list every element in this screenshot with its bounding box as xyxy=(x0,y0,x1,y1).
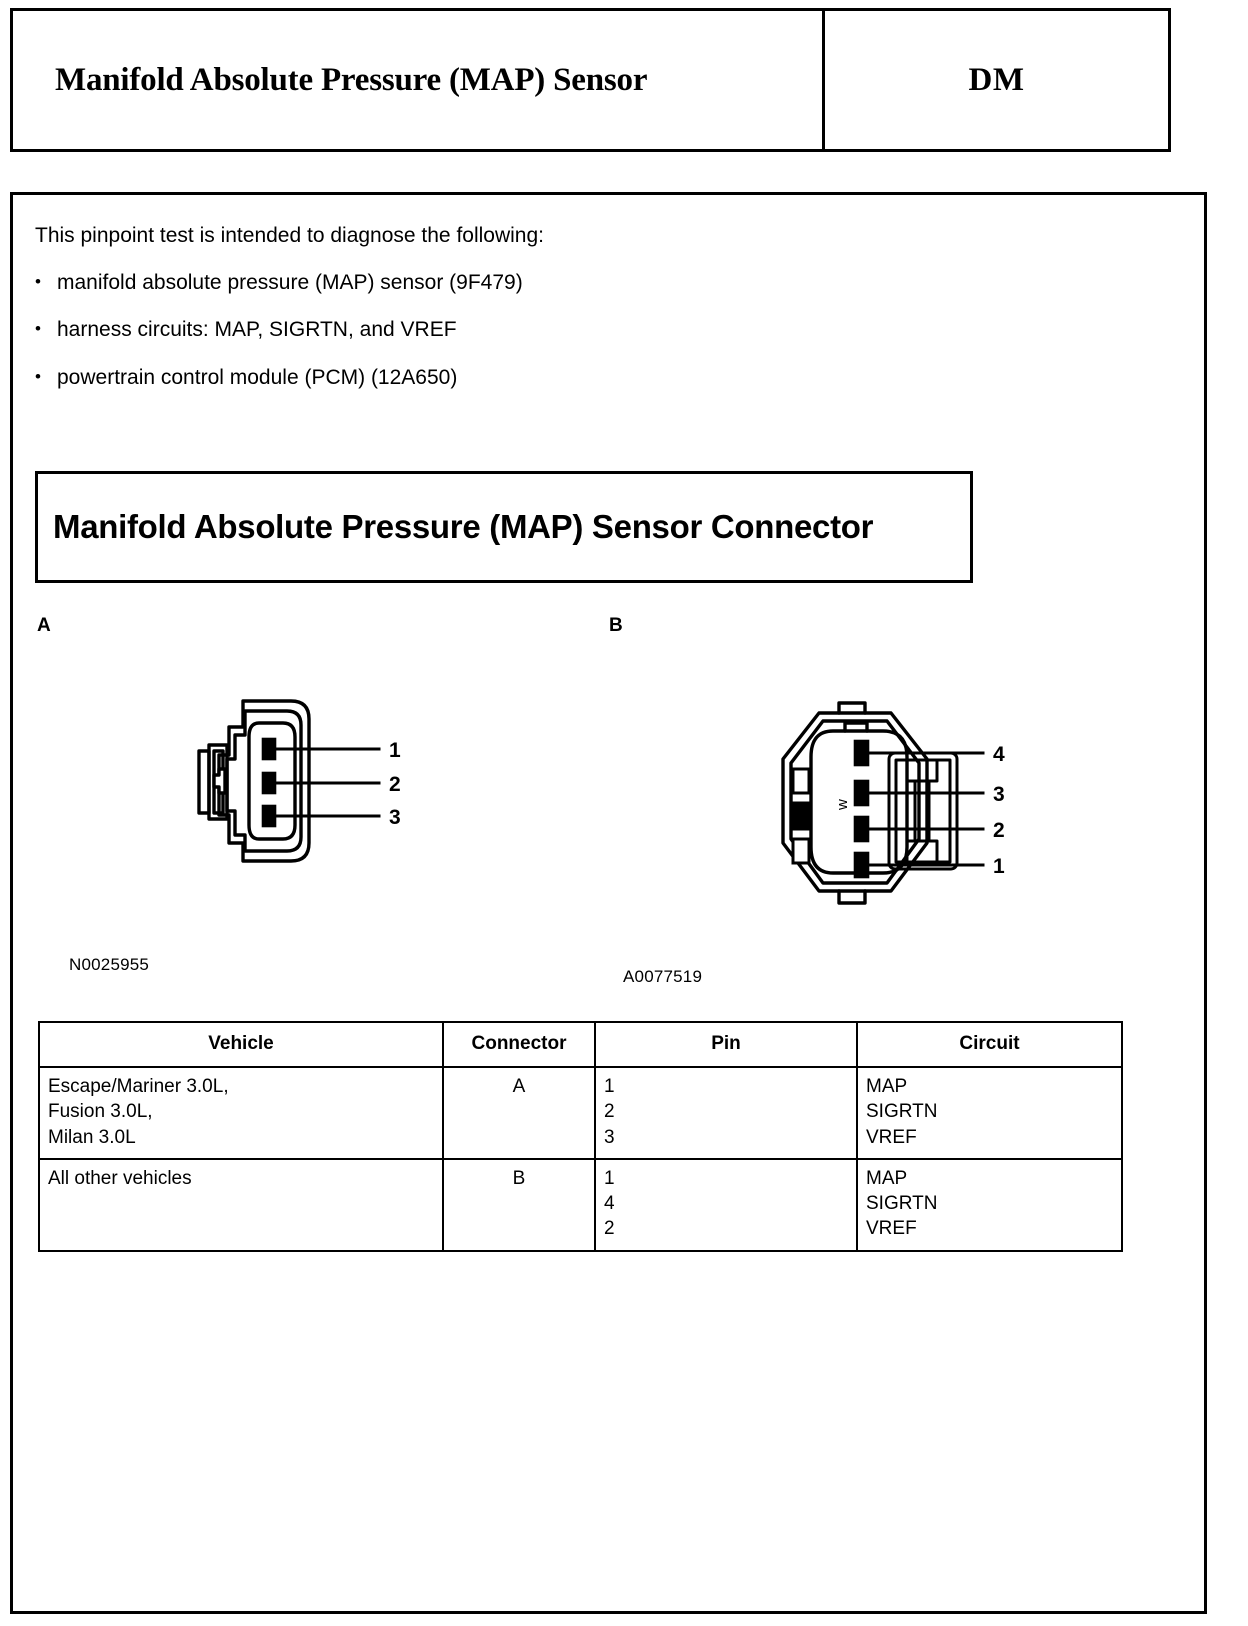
cell-connector: A xyxy=(444,1068,594,1107)
cell-circuit: MAP SIGRTN VREF xyxy=(858,1160,1121,1250)
pin-callout-a-3: 3 xyxy=(389,806,401,829)
page-title: Manifold Absolute Pressure (MAP) Sensor xyxy=(55,60,647,101)
section-heading-box: Manifold Absolute Pressure (MAP) Sensor … xyxy=(35,471,973,583)
connector-a-diagram: 1 2 3 xyxy=(183,693,433,893)
header-title-cell: Manifold Absolute Pressure (MAP) Sensor xyxy=(13,11,825,149)
cell-connector: B xyxy=(444,1160,594,1199)
cell-pin: 1 4 2 xyxy=(596,1160,856,1250)
section-heading: Manifold Absolute Pressure (MAP) Sensor … xyxy=(53,507,873,547)
column-header-vehicle: Vehicle xyxy=(39,1022,443,1067)
figure-label-a: A xyxy=(37,615,51,637)
intro-lead: This pinpoint test is intended to diagno… xyxy=(35,223,935,248)
list-item-label: powertrain control module (PCM) (12A650) xyxy=(57,365,935,390)
content-frame: This pinpoint test is intended to diagno… xyxy=(10,192,1207,1614)
pin-callout-b-4: 4 xyxy=(993,743,1005,766)
list-item-label: harness circuits: MAP, SIGRTN, and VREF xyxy=(57,317,935,342)
table-row: All other vehicles B 1 4 2 MAP SIGRTN VR… xyxy=(39,1159,1122,1251)
bullet-icon: • xyxy=(35,317,57,342)
keying-mark-icon: w xyxy=(834,799,851,811)
connector-figures: A B xyxy=(13,615,1204,995)
figure-caption-b: A0077519 xyxy=(623,967,702,987)
column-header-circuit: Circuit xyxy=(857,1022,1122,1067)
section-code: DM xyxy=(969,62,1025,99)
bullet-icon: • xyxy=(35,365,57,390)
pin-assignment-table: Vehicle Connector Pin Circuit Escape/Mar… xyxy=(38,1021,1123,1252)
list-item: • harness circuits: MAP, SIGRTN, and VRE… xyxy=(35,317,935,342)
cell-circuit: MAP SIGRTN VREF xyxy=(858,1068,1121,1158)
cell-pin: 1 2 3 xyxy=(596,1068,856,1158)
pin-callout-a-2: 2 xyxy=(389,773,401,796)
header-code-cell: DM xyxy=(825,11,1168,149)
pin-callout-b-1: 1 xyxy=(993,855,1005,878)
list-item: • powertrain control module (PCM) (12A65… xyxy=(35,365,935,390)
list-item-label: manifold absolute pressure (MAP) sensor … xyxy=(57,270,935,295)
column-header-pin: Pin xyxy=(595,1022,857,1067)
table-header-row: Vehicle Connector Pin Circuit xyxy=(39,1022,1122,1067)
page-header: Manifold Absolute Pressure (MAP) Sensor … xyxy=(10,8,1171,152)
pin-callout-b-2: 2 xyxy=(993,819,1005,842)
pin-callout-b-3: 3 xyxy=(993,783,1005,806)
figure-caption-a: N0025955 xyxy=(69,955,149,975)
pin-callout-a-1: 1 xyxy=(389,739,401,762)
figure-label-b: B xyxy=(609,615,623,637)
table-row: Escape/Mariner 3.0L, Fusion 3.0L, Milan … xyxy=(39,1067,1122,1159)
cell-vehicle: All other vehicles xyxy=(40,1160,442,1199)
intro-block: This pinpoint test is intended to diagno… xyxy=(35,223,935,412)
cell-vehicle: Escape/Mariner 3.0L, Fusion 3.0L, Milan … xyxy=(40,1068,442,1158)
bullet-icon: • xyxy=(35,270,57,295)
column-header-connector: Connector xyxy=(443,1022,595,1067)
connector-b-keyway xyxy=(791,803,811,829)
list-item: • manifold absolute pressure (MAP) senso… xyxy=(35,270,935,295)
service-manual-page: Manifold Absolute Pressure (MAP) Sensor … xyxy=(0,0,1248,1626)
connector-b-diagram: w xyxy=(741,677,1031,927)
